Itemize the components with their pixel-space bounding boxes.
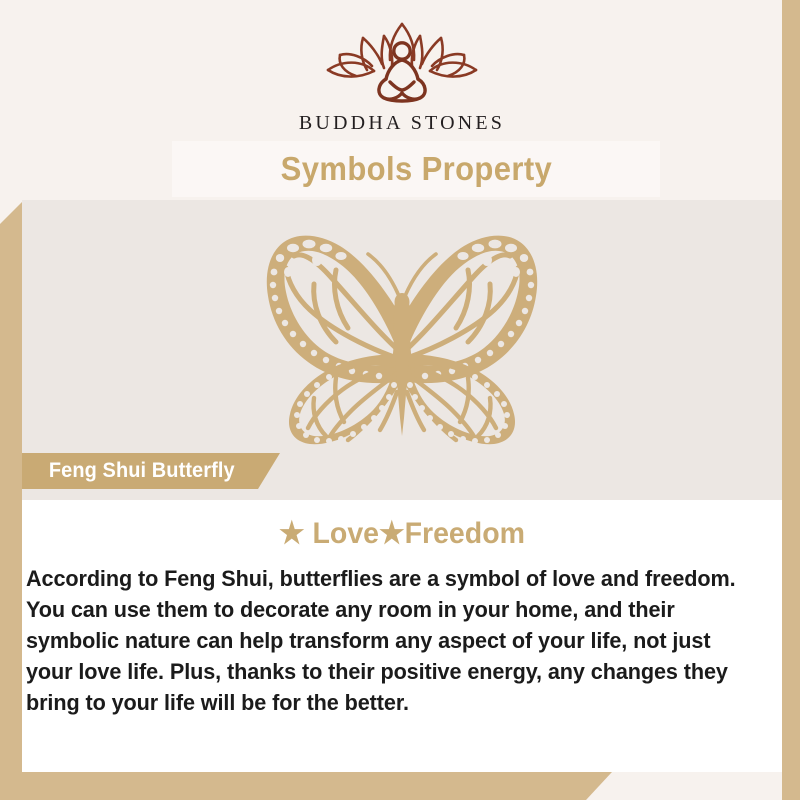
feature-ribbon: Feng Shui Butterfly bbox=[22, 453, 280, 489]
frame-right-accent bbox=[782, 0, 800, 800]
promo-infographic: BUDDHA STONES Symbols Property bbox=[0, 0, 800, 800]
ribbon-label: Feng Shui Butterfly bbox=[49, 459, 235, 483]
frame-bottom-accent bbox=[0, 772, 612, 800]
brand-logo: BUDDHA STONES bbox=[22, 16, 782, 135]
keywords-headline: ★ Love★Freedom bbox=[41, 516, 763, 551]
butterfly-icon bbox=[216, 222, 588, 450]
description-paragraph: According to Feng Shui, butterflies are … bbox=[26, 563, 755, 718]
content-panel: BUDDHA STONES Symbols Property bbox=[22, 0, 782, 772]
description-card: ★ Love★Freedom According to Feng Shui, b… bbox=[22, 500, 782, 772]
brand-name: BUDDHA STONES bbox=[299, 112, 505, 135]
title-banner: Symbols Property bbox=[172, 141, 660, 197]
page-title: Symbols Property bbox=[280, 150, 551, 188]
lotus-meditation-icon bbox=[314, 16, 490, 108]
frame-left-accent bbox=[0, 202, 22, 800]
